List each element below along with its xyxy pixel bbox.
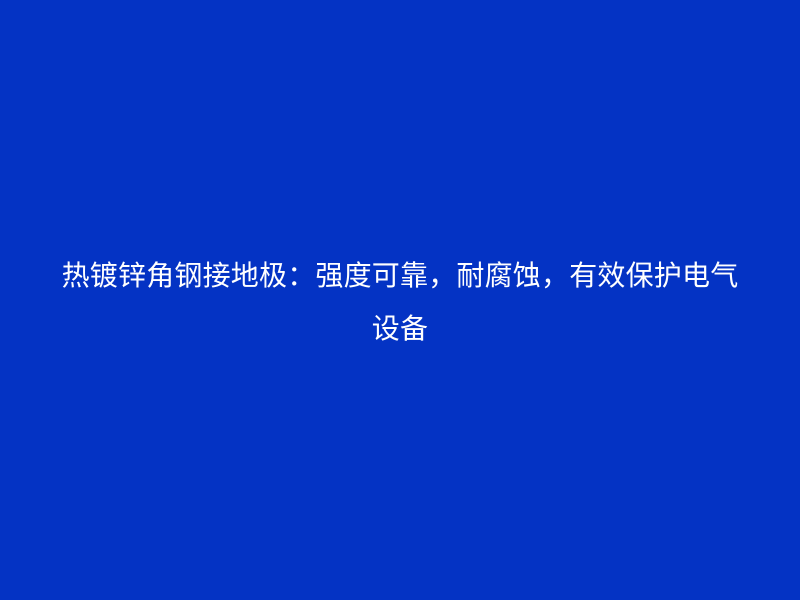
page-title: 热镀锌角钢接地极：强度可靠，耐腐蚀，有效保护电气设备	[55, 249, 745, 355]
banner-background: 热镀锌角钢接地极：强度可靠，耐腐蚀，有效保护电气设备	[0, 0, 800, 600]
headline-block: 热镀锌角钢接地极：强度可靠，耐腐蚀，有效保护电气设备	[55, 249, 745, 355]
